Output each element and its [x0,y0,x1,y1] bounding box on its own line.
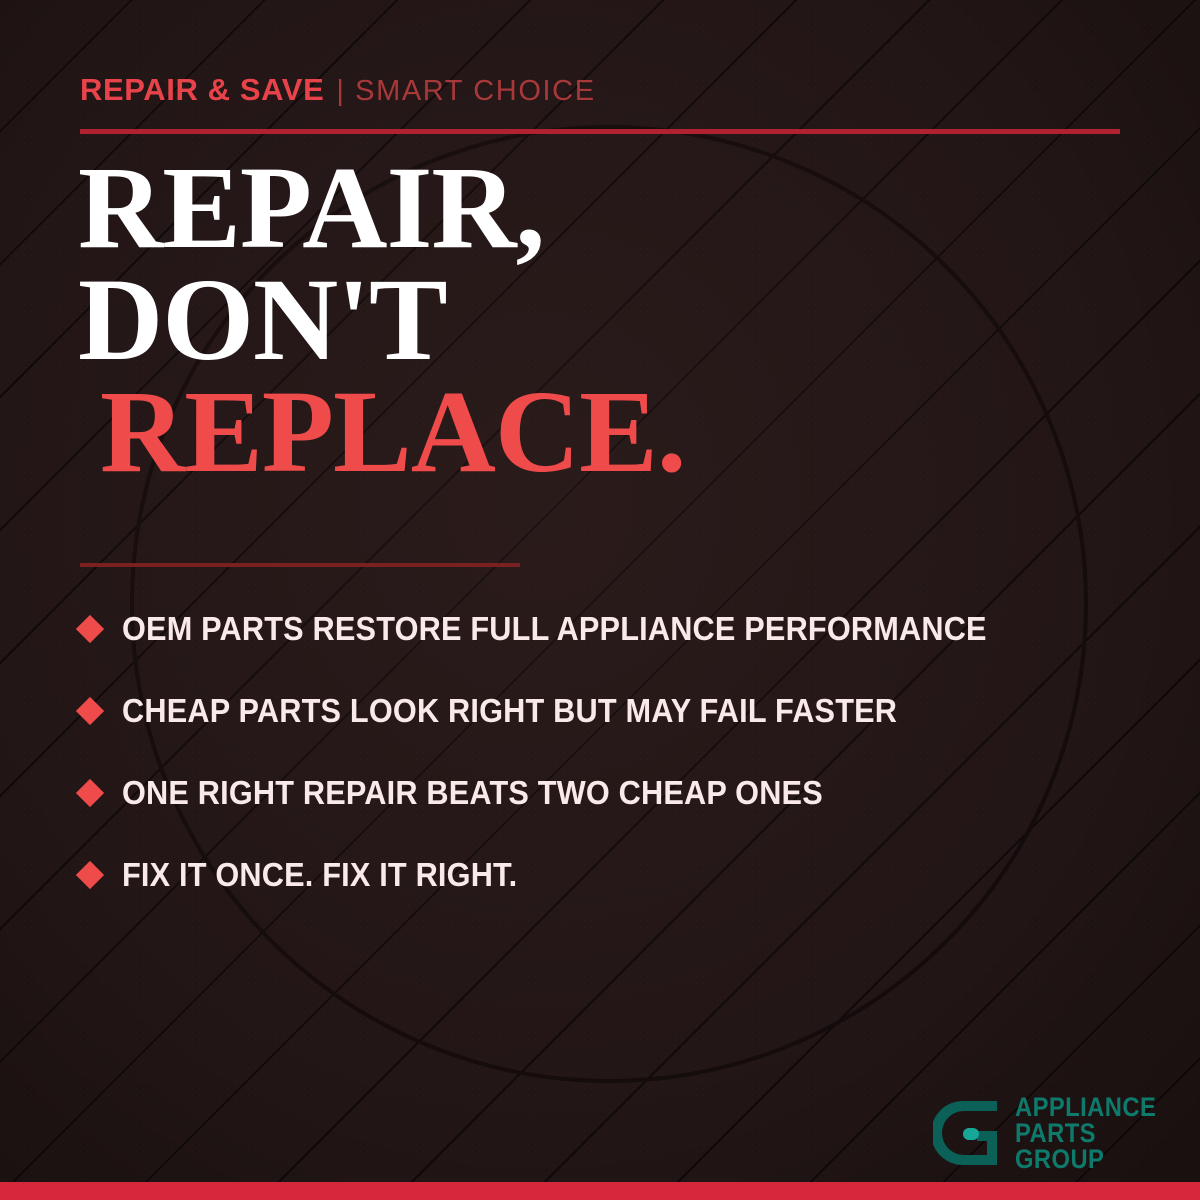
kicker-main-text: REPAIR & SAVE [80,72,324,107]
wordmark-line-2: PARTS [1015,1120,1156,1146]
header-kicker: REPAIR & SAVE| SMART CHOICE [80,72,596,108]
letter-g-logo-icon [933,1097,1001,1169]
list-item-label: ONE RIGHT REPAIR BEATS TWO CHEAP ONES [122,774,823,812]
list-item-label: OEM PARTS RESTORE FULL APPLIANCE PERFORM… [122,610,987,648]
headline-block: REPAIR, DON'T REPLACE. [78,152,685,488]
diamond-bullet-icon [76,697,104,725]
list-item: FIX IT ONCE. FIX IT RIGHT. [80,834,1150,916]
list-item: ONE RIGHT REPAIR BEATS TWO CHEAP ONES [80,752,1150,834]
promo-poster: REPAIR & SAVE| SMART CHOICE REPAIR, DON'… [0,0,1200,1200]
headline-divider-rule [80,563,520,567]
headline-line-3: REPLACE. [100,376,685,488]
headline-line-2: DON'T [78,264,685,376]
brand-logo: APPLIANCE PARTS GROUP [933,1094,1176,1172]
wordmark-line-3: GROUP [1015,1146,1156,1172]
list-item: OEM PARTS RESTORE FULL APPLIANCE PERFORM… [80,588,1150,670]
list-item: CHEAP PARTS LOOK RIGHT BUT MAY FAIL FAST… [80,670,1150,752]
diamond-bullet-icon [76,615,104,643]
benefits-list: OEM PARTS RESTORE FULL APPLIANCE PERFORM… [80,588,1150,916]
diamond-bullet-icon [76,861,104,889]
header-divider-rule [80,129,1120,134]
wordmark-line-1: APPLIANCE [1015,1094,1156,1120]
headline-line-1: REPAIR, [78,152,685,264]
bottom-accent-bar [0,1182,1200,1200]
kicker-sub-text: | SMART CHOICE [336,75,595,107]
brand-wordmark: APPLIANCE PARTS GROUP [1015,1094,1176,1172]
diamond-bullet-icon [76,779,104,807]
list-item-label: FIX IT ONCE. FIX IT RIGHT. [122,856,517,894]
list-item-label: CHEAP PARTS LOOK RIGHT BUT MAY FAIL FAST… [122,692,897,730]
